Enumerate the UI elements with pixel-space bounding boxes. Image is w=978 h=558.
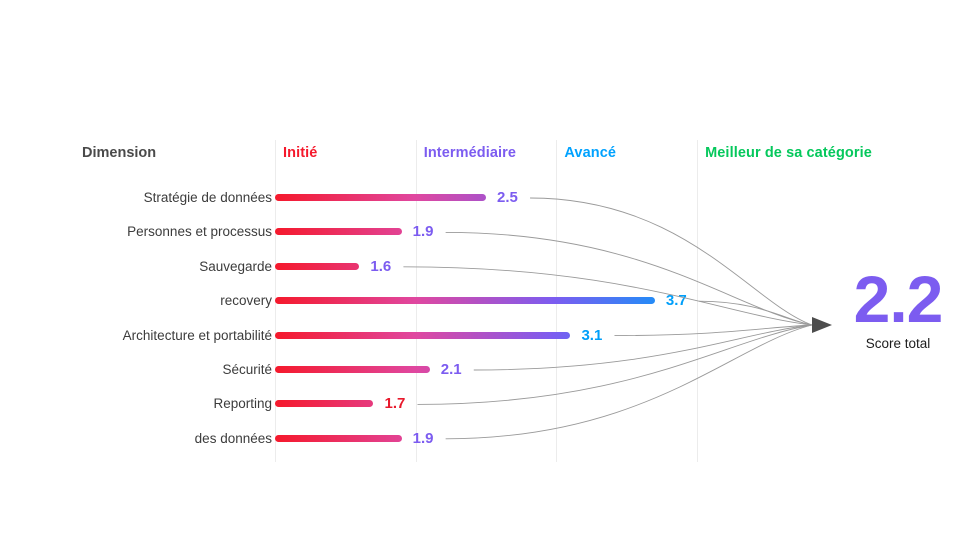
bar-value-label-5: 2.1 xyxy=(441,353,462,387)
bar-row: Architecture et portabilité3.1 xyxy=(0,319,978,353)
column-header-3: Meilleur de sa catégorie xyxy=(705,145,872,161)
bar-track xyxy=(275,194,486,201)
column-header-2: Avancé xyxy=(564,145,616,161)
bar-track xyxy=(275,263,359,270)
bar-0[interactable] xyxy=(275,194,486,201)
row-label-7: des données xyxy=(195,422,272,456)
row-label-4: Architecture et portabilité xyxy=(123,319,272,353)
bar-track xyxy=(275,297,655,304)
bar-1[interactable] xyxy=(275,228,402,235)
bar-value-label-2: 1.6 xyxy=(370,250,391,284)
bar-5[interactable] xyxy=(275,366,430,373)
bar-value-label-6: 1.7 xyxy=(384,387,405,421)
total-score-caption: Score total xyxy=(838,336,958,351)
bar-track xyxy=(275,228,402,235)
scorecard-chart: Dimension InitiéIntermédiaireAvancéMeill… xyxy=(0,0,978,558)
bar-value-label-7: 1.9 xyxy=(413,422,434,456)
row-label-6: Reporting xyxy=(213,387,272,421)
bar-2[interactable] xyxy=(275,263,359,270)
total-score-value: 2.2 xyxy=(838,268,958,330)
row-label-5: Sécurité xyxy=(222,353,272,387)
column-header-dimension: Dimension xyxy=(82,145,156,161)
bar-value-label-4: 3.1 xyxy=(581,319,602,353)
bar-row: recovery3.7 xyxy=(0,284,978,318)
bar-7[interactable] xyxy=(275,435,402,442)
bar-row: Sécurité2.1 xyxy=(0,353,978,387)
row-label-3: recovery xyxy=(220,284,272,318)
bar-track xyxy=(275,435,402,442)
column-header-1: Intermédiaire xyxy=(424,145,516,161)
bar-row: Stratégie de données2.5 xyxy=(0,181,978,215)
bar-value-label-1: 1.9 xyxy=(413,215,434,249)
bar-value-label-0: 2.5 xyxy=(497,181,518,215)
bar-6[interactable] xyxy=(275,400,373,407)
bar-track xyxy=(275,332,570,339)
bar-3[interactable] xyxy=(275,297,655,304)
bar-row: Reporting1.7 xyxy=(0,387,978,421)
total-score-block: 2.2 Score total xyxy=(838,268,958,351)
bar-value-label-3: 3.7 xyxy=(666,284,687,318)
bar-row: Personnes et processus1.9 xyxy=(0,215,978,249)
bar-row: Sauvegarde1.6 xyxy=(0,250,978,284)
row-label-1: Personnes et processus xyxy=(127,215,272,249)
bar-track xyxy=(275,366,430,373)
bar-4[interactable] xyxy=(275,332,570,339)
row-label-2: Sauvegarde xyxy=(199,250,272,284)
column-header-0: Initié xyxy=(283,145,317,161)
row-label-0: Stratégie de données xyxy=(144,181,272,215)
bar-row: des données1.9 xyxy=(0,422,978,456)
bar-track xyxy=(275,400,373,407)
